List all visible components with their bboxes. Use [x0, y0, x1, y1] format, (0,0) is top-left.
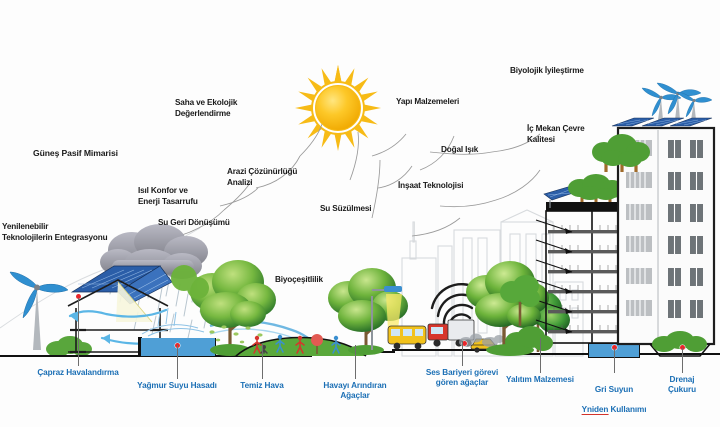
label-biyocesitlilik: Biyoçeşitlilik — [275, 275, 323, 286]
label-gri-suyun-yeniden-kullanimi: Gri Suyun Yniden Kullanımı — [582, 375, 647, 415]
residential-tower — [636, 84, 720, 360]
ground-line-left — [0, 355, 140, 357]
infographic-canvas: Güneş Pasif Mimarisi Saha ve Ekolojik De… — [0, 0, 720, 427]
background-foliage — [170, 258, 210, 308]
leader-line — [262, 343, 263, 379]
rooftop-trees — [592, 130, 650, 176]
leader-line — [682, 348, 683, 373]
leader-line — [614, 348, 615, 373]
label-isil-konfor-ve-enerji-tasarrufu: Isıl Konfor ve Enerji Tasarrufu — [138, 186, 198, 207]
label-su-geri-donusumu: Su Geri Dönüşümü — [158, 218, 230, 229]
greywater-label-misspelled-word: Yniden — [582, 405, 609, 415]
label-dogal-isik: Doğal Işık — [441, 145, 478, 156]
label-ic-mekan-cevre-kalitesi: İç Mekan Çevre Kalitesi — [527, 124, 585, 145]
label-insaat-teknolojisi: İnşaat Teknolojisi — [398, 181, 463, 192]
label-drenaj-cukuru: Drenaj Çukuru — [663, 375, 701, 395]
label-yalitim-malzemesi: Yalıtım Malzemesi — [506, 375, 574, 385]
label-yapi-malzemeleri: Yapı Malzemeleri — [396, 97, 459, 108]
leader-line — [177, 345, 178, 379]
greywater-label-line1: Gri Suyun — [595, 385, 633, 394]
label-biyolojik-iyilestirme: Biyolojik İyileştirme — [510, 66, 584, 77]
label-havayi-arindiran-agaclar: Havayı Arındıran Ağaçlar — [323, 381, 386, 401]
label-ses-bariyeri-goren-agaclar: Ses Bariyeri görevi gören ağaçlar — [426, 368, 498, 388]
leader-line — [462, 341, 463, 366]
label-su-suzulmesi: Su Süzülmesi — [320, 204, 371, 215]
leader-line — [78, 298, 79, 366]
greywater-label-line2-rest: Kullanımı — [608, 405, 646, 414]
label-yenilenebilir-teknolojilerin-entegrasyonu: Yenilenebilir Teknolojilerin Entegrasyon… — [2, 222, 107, 243]
label-yagmur-suyu-hasadi: Yağmur Suyu Hasadı — [137, 381, 217, 391]
leader-line — [355, 345, 356, 379]
label-gunes-pasif-mimarisi: Güneş Pasif Mimarisi — [33, 148, 118, 159]
label-arazi-cozunurlugu-analizi: Arazi Çözünürlüğü Analizi — [227, 167, 297, 188]
label-capraz-havalandirma: Çapraz Havalandırma — [37, 368, 118, 378]
leader-line — [540, 338, 541, 373]
tree-icon — [500, 272, 540, 332]
label-temiz-hava: Temiz Hava — [240, 381, 283, 391]
label-saha-ve-ekolojik-degerlendirme: Saha ve Ekolojik Değerlendirme — [175, 98, 237, 119]
